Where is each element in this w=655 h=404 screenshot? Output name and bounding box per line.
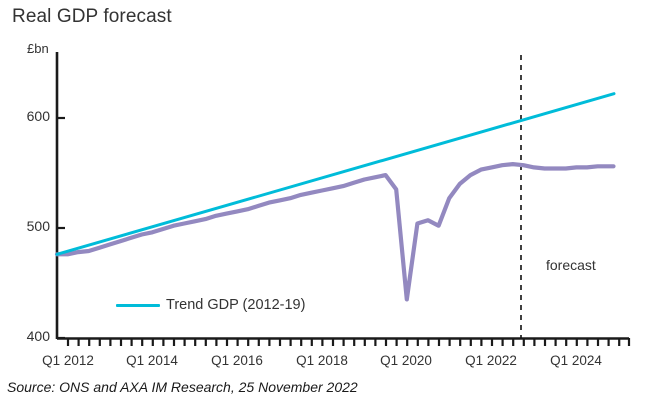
x-tick-label-q1-2024: Q1 2024	[550, 353, 602, 368]
x-tick-label-q1-2016: Q1 2016	[211, 353, 263, 368]
legend-label-trend-gdp: Trend GDP (2012-19)	[166, 297, 305, 313]
x-tick-label-q1-2014: Q1 2014	[126, 353, 178, 368]
source-note: Source: ONS and AXA IM Research, 25 Nove…	[7, 379, 358, 395]
trend-series-line	[57, 94, 614, 255]
legend: Trend GDP (2012-19)	[116, 297, 305, 313]
y-tick-label: 400	[6, 328, 50, 344]
x-tick-label-q1-2020: Q1 2020	[380, 353, 432, 368]
forecast-annotation-label: forecast	[546, 257, 596, 273]
x-tick-label-q1-2022: Q1 2022	[465, 353, 517, 368]
y-tick-label: 600	[6, 108, 50, 124]
x-tick-label-q1-2018: Q1 2018	[296, 353, 348, 368]
y-tick-label: 500	[6, 218, 50, 234]
legend-swatch-trend-gdp	[116, 304, 160, 307]
plot-area	[0, 0, 655, 404]
chart-container: Real GDP forecast £bn	[0, 0, 655, 404]
x-tick-label-q1-2012: Q1 2012	[42, 353, 94, 368]
